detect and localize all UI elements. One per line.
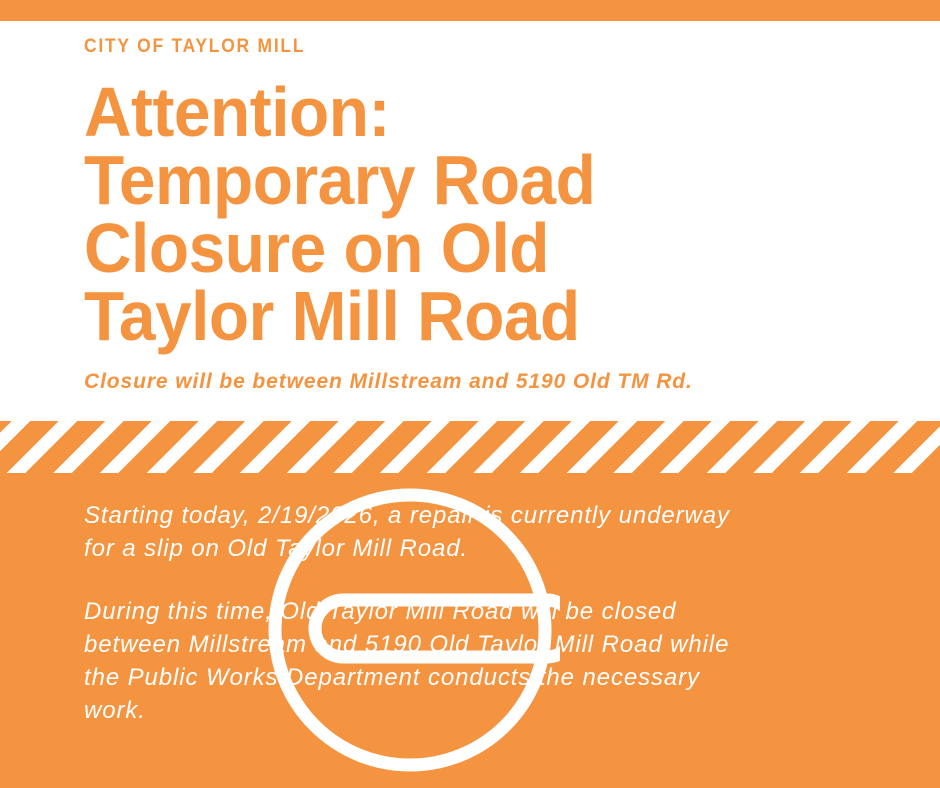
notice-body-text: Starting today, 2/19/2026, a repair is c…: [84, 499, 744, 727]
notice-paragraph-2: During this time, Old Taylor Mill Road w…: [84, 595, 744, 727]
page-title-line-2: Temporary Road: [84, 146, 704, 214]
page-title-line-3: Closure on Old: [84, 214, 704, 282]
page-title: Attention: Temporary Road Closure on Old…: [84, 78, 704, 350]
notice-body-section: Starting today, 2/19/2026, a repair is c…: [0, 473, 940, 788]
organization-name: CITY OF TAYLOR MILL: [84, 36, 305, 58]
page-subtitle: Closure will be between Millstream and 5…: [84, 369, 693, 395]
road-closure-notice-poster: CITY OF TAYLOR MILL Attention: Temporary…: [0, 0, 940, 788]
hazard-stripe-divider: [0, 421, 940, 473]
notice-header-section: CITY OF TAYLOR MILL Attention: Temporary…: [0, 21, 940, 421]
top-accent-bar: [0, 0, 940, 21]
notice-paragraph-1: Starting today, 2/19/2026, a repair is c…: [84, 499, 744, 565]
page-title-line-4: Taylor Mill Road: [84, 282, 704, 350]
page-title-line-1: Attention:: [84, 78, 704, 146]
